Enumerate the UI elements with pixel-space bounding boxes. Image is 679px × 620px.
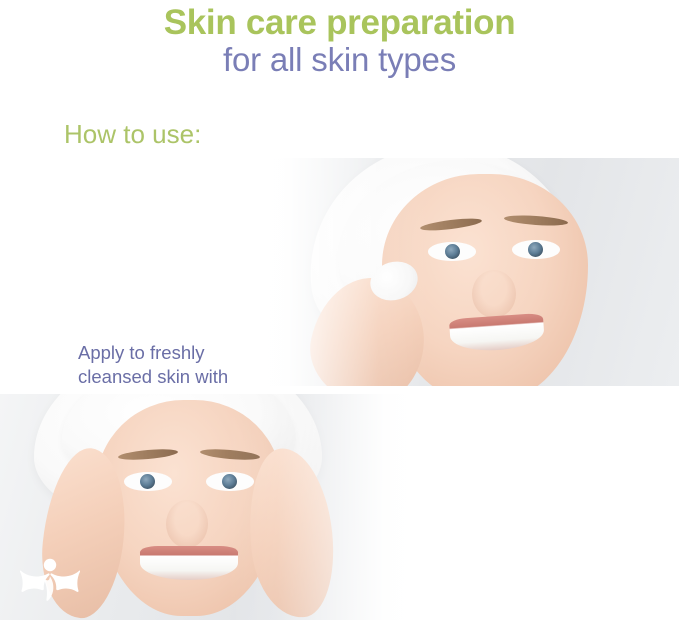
right-eyebrow-icon <box>200 447 261 461</box>
step-1-photo <box>250 158 679 386</box>
page-subtitle: for all skin types <box>0 41 679 79</box>
left-eyebrow-icon <box>118 447 179 461</box>
right-eye-icon <box>512 240 560 259</box>
header: Skin care preparation for all skin types <box>0 0 679 100</box>
right-eye-icon <box>206 472 254 491</box>
hand-shape <box>300 268 436 386</box>
right-eyebrow-icon <box>504 214 568 227</box>
left-eye-icon <box>428 242 476 261</box>
step-1-text: Apply to freshly cleansed skin with a co… <box>78 341 303 386</box>
cotton-pad-icon <box>366 256 423 306</box>
towel-icon <box>298 158 586 365</box>
nose-shape <box>472 270 516 318</box>
step-1-photo-scene <box>250 158 679 386</box>
smile-icon <box>449 313 545 353</box>
face-shape <box>96 400 282 616</box>
towel-icon <box>34 394 322 524</box>
butterfly-logo <box>20 553 80 608</box>
nose-shape <box>166 500 208 548</box>
smile-icon <box>140 546 238 580</box>
photo-background <box>250 158 679 386</box>
left-eyebrow-icon <box>420 216 483 232</box>
right-hand-shape <box>241 444 340 620</box>
skin-care-infographic: Skin care preparation for all skin types… <box>0 0 679 620</box>
page-title: Skin care preparation <box>0 2 679 43</box>
how-to-use-heading: How to use: <box>64 119 201 150</box>
towel-band-icon <box>326 158 573 329</box>
step-1-band: STEP 1 Apply to freshly cleansed skin wi… <box>0 158 679 386</box>
face-shape <box>382 174 588 386</box>
step-2-band: STEP 2 Allow the product to dry without … <box>0 394 679 620</box>
left-eye-icon <box>124 472 172 491</box>
towel-band-icon <box>62 394 296 486</box>
